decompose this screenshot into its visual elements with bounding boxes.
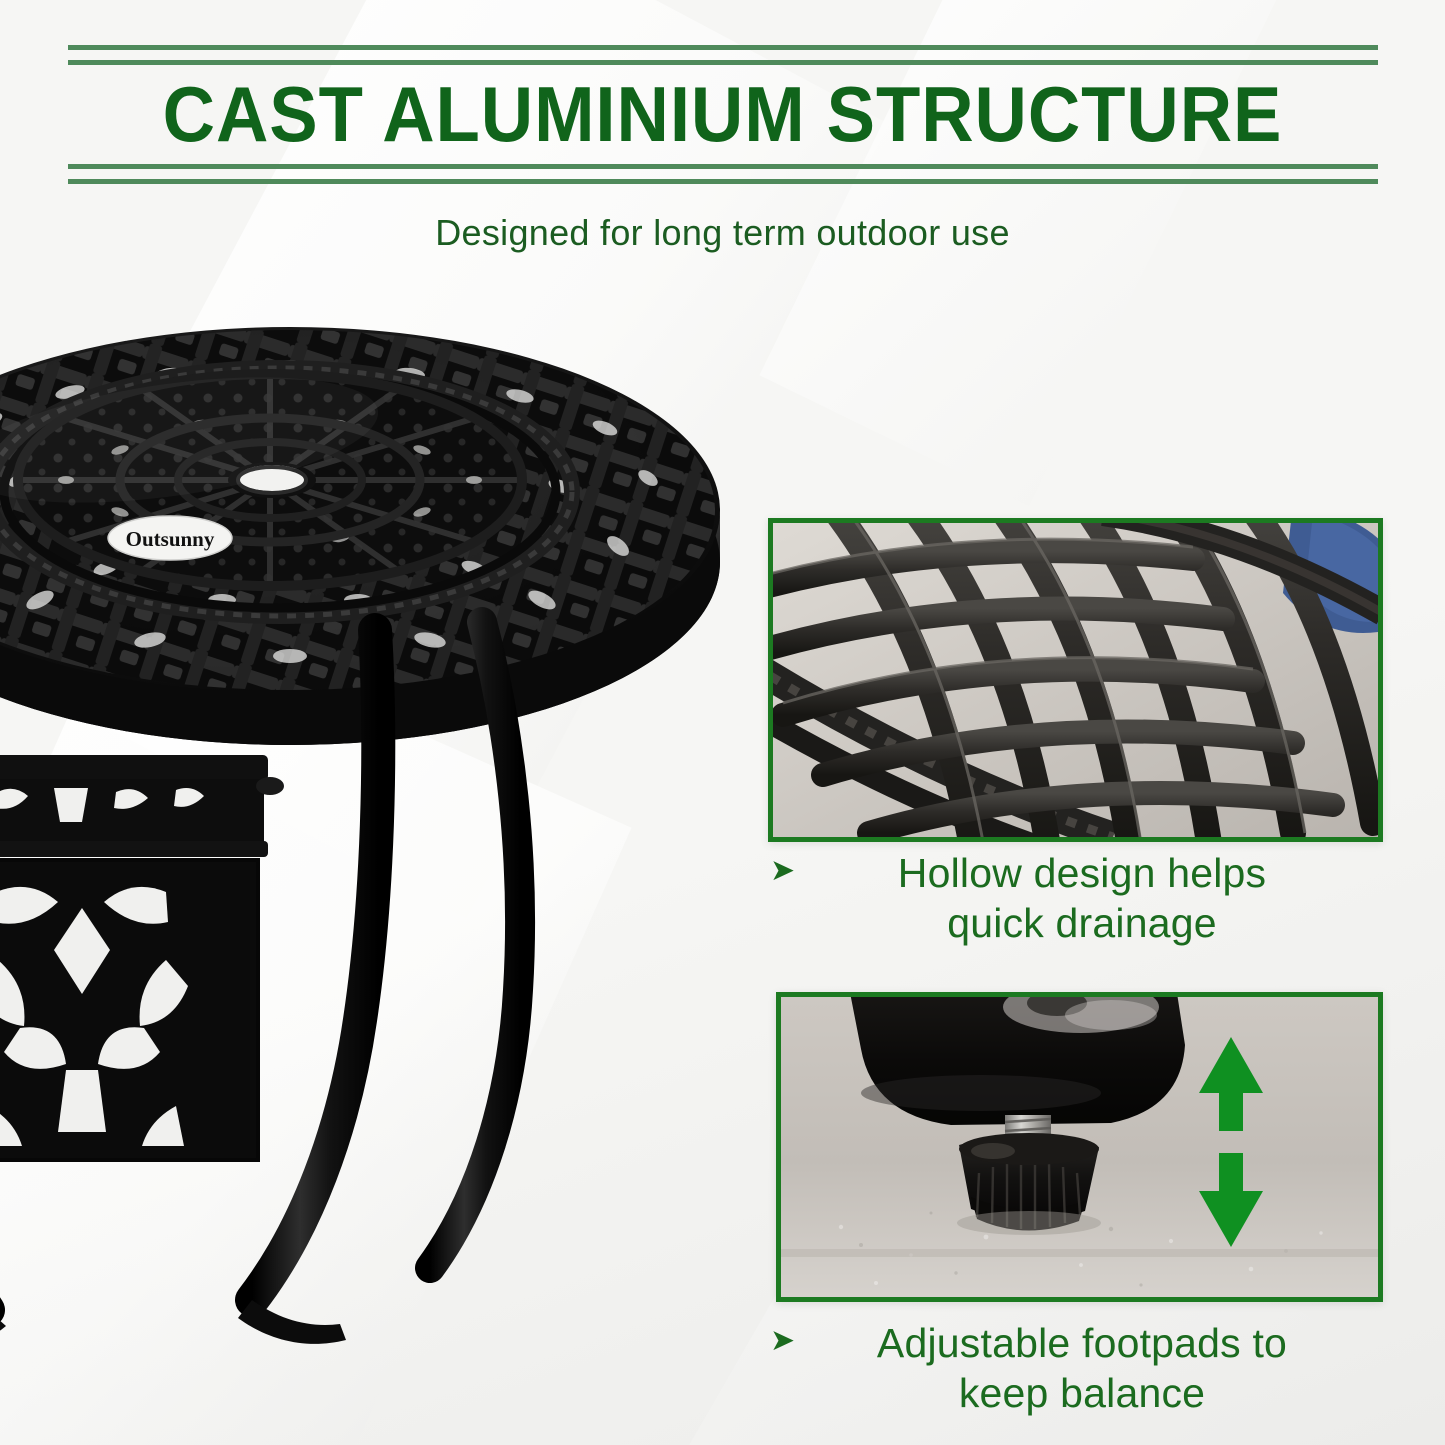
brand-badge: Outsunny (108, 516, 232, 560)
page-subtitle: Designed for long term outdoor use (0, 210, 1445, 256)
hero-product-image: Outsunny (0, 300, 770, 1360)
header-rule-top-2 (68, 60, 1378, 65)
header-rule-bottom-1 (68, 164, 1378, 169)
caption-hollow-drainage: ➤ Hollow design helps quick drainage (770, 848, 1380, 948)
footpad-closeup-photo (781, 997, 1378, 1297)
caption-text: Adjustable footpads to keep balance (824, 1318, 1380, 1418)
caption-line-1: Adjustable footpads to (877, 1320, 1287, 1366)
feature-panel-hollow-drainage (768, 518, 1383, 842)
feature-panel-adjustable-footpads (776, 992, 1383, 1302)
base-ornament-panel (0, 755, 284, 1160)
arrowhead-right-icon: ➤ (770, 856, 824, 886)
page-title: CAST ALUMINIUM STRUCTURE (51, 68, 1395, 160)
caption-line-2: keep balance (824, 1368, 1340, 1418)
header-rule-bottom-2 (68, 179, 1378, 184)
caption-text: Hollow design helps quick drainage (824, 848, 1380, 948)
infographic-canvas: CAST ALUMINIUM STRUCTURE Designed for lo… (0, 0, 1445, 1445)
caption-adjustable-footpads: ➤ Adjustable footpads to keep balance (770, 1318, 1380, 1418)
caption-line-2: quick drainage (824, 898, 1340, 948)
header: CAST ALUMINIUM STRUCTURE Designed for lo… (0, 0, 1445, 290)
header-rule-top-1 (68, 45, 1378, 50)
lattice-closeup-photo (773, 523, 1378, 837)
caption-line-1: Hollow design helps (898, 850, 1266, 896)
svg-text:Outsunny: Outsunny (126, 527, 215, 551)
arrowhead-right-icon: ➤ (770, 1326, 824, 1356)
